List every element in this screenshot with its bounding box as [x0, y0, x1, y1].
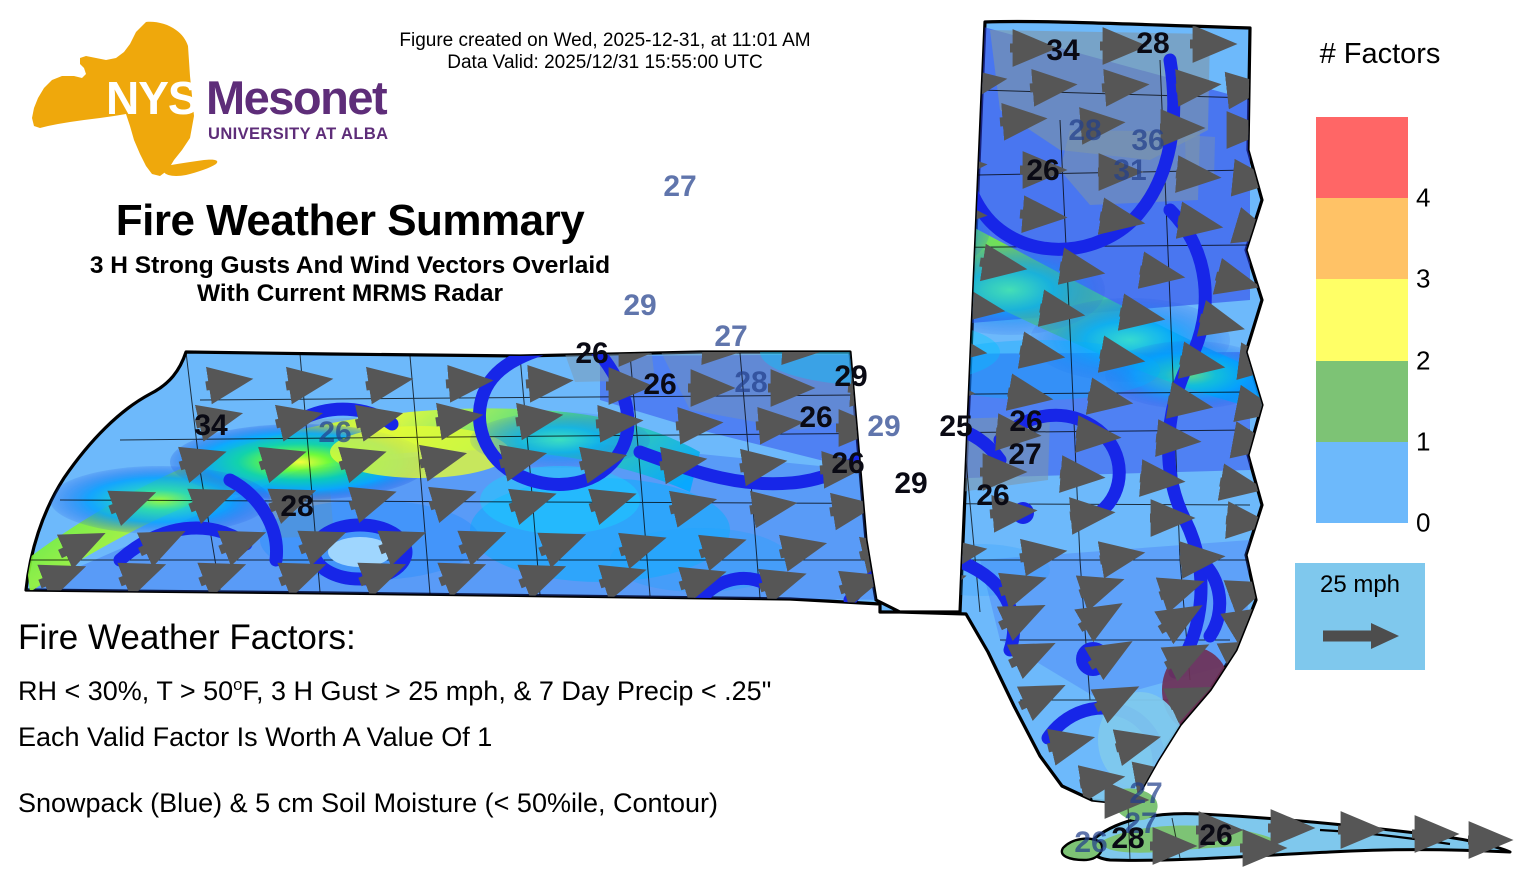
gust-label: 26 — [1009, 405, 1042, 438]
page-subtitle: 3 H Strong Gusts And Wind Vectors Overla… — [20, 252, 680, 307]
gust-label: 26 — [1026, 154, 1059, 187]
page-title: Fire Weather Summary — [20, 196, 680, 246]
colorbar-tick-4: 4 — [1416, 183, 1430, 214]
gust-label: 29 — [867, 410, 900, 443]
gust-label: 34 — [1046, 34, 1080, 67]
gust-label: 27 — [1008, 438, 1041, 471]
legend-title: # Factors — [1295, 38, 1465, 71]
gust-label: 34 — [194, 409, 228, 442]
criteria-post: F, 3 H Gust > 25 mph, & 7 Day Precip < .… — [242, 676, 771, 706]
factors-heading: Fire Weather Factors: — [18, 620, 938, 655]
factors-criteria: RH < 30%, T > 50oF, 3 H Gust > 25 mph, &… — [18, 677, 938, 705]
subtitle-line-2: With Current MRMS Radar — [20, 280, 680, 308]
colorbar-band-0 — [1316, 442, 1408, 523]
gust-label: 28 — [1068, 114, 1101, 147]
gust-label: 25 — [939, 410, 972, 443]
colorbar-tick-0: 0 — [1416, 508, 1430, 539]
wind-key-arrow-icon — [1321, 619, 1401, 658]
snowpack-note: Snowpack (Blue) & 5 cm Soil Moisture (< … — [18, 790, 938, 817]
colorbar-tick-2: 2 — [1416, 345, 1430, 376]
wind-key-label: 25 mph — [1295, 571, 1425, 599]
gust-label: 31 — [1113, 154, 1146, 187]
gust-label: 29 — [834, 360, 867, 393]
gust-label: 29 — [894, 467, 927, 500]
gust-label: 36 — [1131, 124, 1164, 157]
valid-line: Data Valid: 2025/12/31 15:55:00 UTC — [310, 52, 900, 74]
wind-vector-key: 25 mph — [1295, 563, 1425, 670]
gust-label: 28 — [1136, 27, 1169, 60]
colorbar-band-4 — [1316, 117, 1408, 198]
gust-label: 26 — [799, 401, 832, 434]
subtitle-line-1: 3 H Strong Gusts And Wind Vectors Overla… — [20, 252, 680, 280]
gust-label: 28 — [1111, 822, 1144, 855]
logo-mesonet-text: Mesonet — [206, 71, 388, 124]
factor-value-note: Each Valid Factor Is Worth A Value Of 1 — [18, 724, 938, 751]
gust-label: 26 — [976, 479, 1009, 512]
colorbar-band-3 — [1316, 198, 1408, 279]
gust-label: 27 — [1129, 777, 1162, 810]
colorbar-tick-1: 1 — [1416, 426, 1430, 457]
created-line: Figure created on Wed, 2025-12-31, at 11… — [310, 30, 900, 52]
gust-label: 26 — [831, 447, 864, 480]
footer-notes: Fire Weather Factors: RH < 30%, T > 50oF… — [18, 620, 938, 836]
colorbar-band-1 — [1316, 361, 1408, 442]
figure-timestamp: Figure created on Wed, 2025-12-31, at 11… — [310, 30, 900, 75]
logo-university-text: UNIVERSITY AT ALBANY — [208, 125, 388, 143]
criteria-pre: RH < 30%, T > 50 — [18, 676, 233, 706]
footer-spacer — [18, 770, 938, 790]
gust-label: 28 — [734, 366, 767, 399]
gust-label: 26 — [575, 337, 608, 370]
gust-label: 28 — [280, 490, 313, 523]
gust-label: 26 — [1199, 819, 1232, 852]
logo-nys-text: NYS — [106, 72, 198, 124]
gust-label: 27 — [714, 320, 747, 353]
gust-label: 26 — [1074, 826, 1107, 859]
gust-label: 26 — [643, 368, 676, 401]
colorbar-band-2 — [1316, 279, 1408, 360]
factors-colorbar: 43210 — [1316, 117, 1408, 523]
gust-label: 26 — [318, 416, 351, 449]
colorbar-tick-3: 3 — [1416, 264, 1430, 295]
